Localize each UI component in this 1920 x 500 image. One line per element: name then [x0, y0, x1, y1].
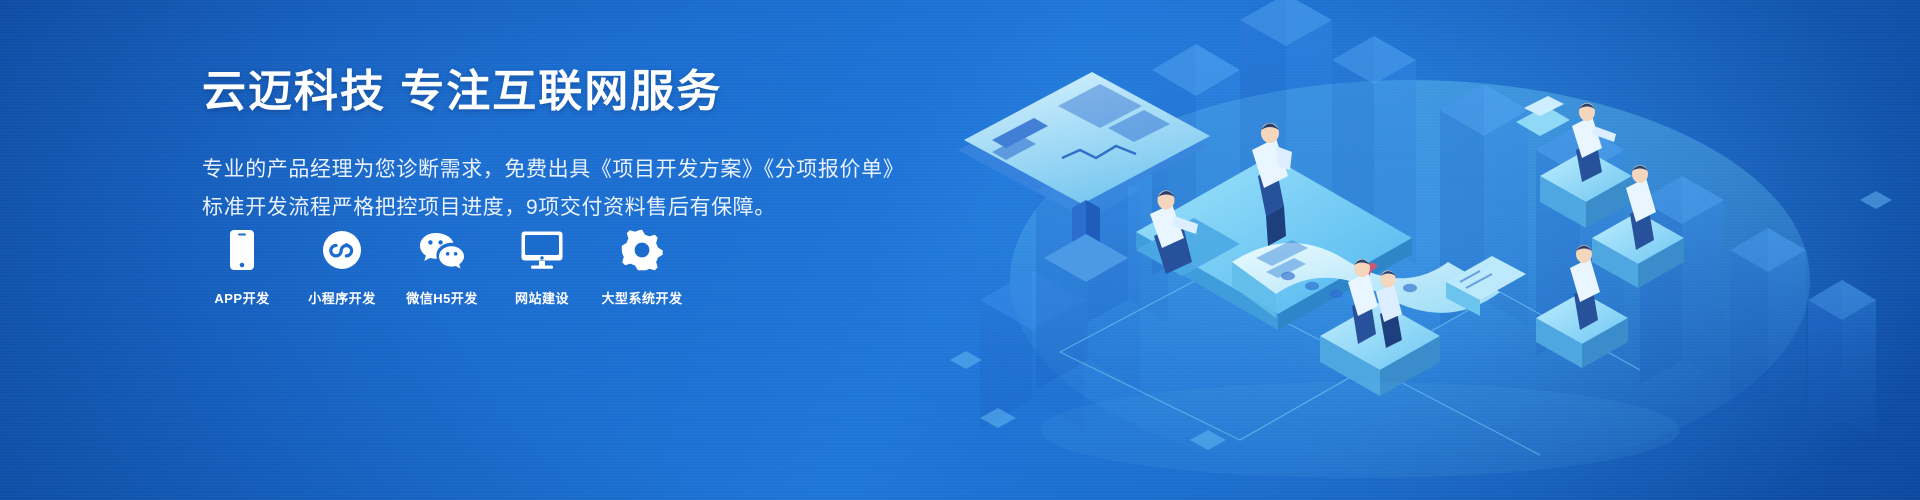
mini-program-icon: [322, 228, 362, 272]
page-title: 云迈科技 专注互联网服务: [202, 66, 904, 119]
service-item-mini-program[interactable]: 小程序开发: [304, 228, 380, 307]
monitor-icon: [520, 228, 564, 272]
service-label-large-system: 大型系统开发: [602, 288, 683, 307]
subtitle-line-2: 标准开发流程严格把控项目进度，9项交付资料售后有保障。: [202, 189, 904, 227]
service-item-wechat[interactable]: 微信H5开发: [404, 228, 480, 307]
hero-banner: 云迈科技 专注互联网服务 专业的产品经理为您诊断需求，免费出具《项目开发方案》《…: [0, 0, 1920, 500]
banner-subtitle: 专业的产品经理为您诊断需求，免费出具《项目开发方案》《分项报价单》 标准开发流程…: [202, 151, 904, 227]
service-icon-row: APP开发 小程序开发: [204, 228, 680, 307]
subtitle-line-1: 专业的产品经理为您诊断需求，免费出具《项目开发方案》《分项报价单》: [202, 151, 904, 189]
mobile-phone-icon: [229, 228, 255, 272]
isometric-illustration: [940, 0, 1920, 500]
service-label-app: APP开发: [214, 288, 269, 307]
gear-icon: [621, 228, 663, 272]
service-label-mini-program: 小程序开发: [308, 288, 376, 307]
wechat-icon: [418, 228, 466, 272]
service-item-website[interactable]: 网站建设: [504, 228, 580, 307]
banner-text-block: 云迈科技 专注互联网服务 专业的产品经理为您诊断需求，免费出具《项目开发方案》《…: [202, 66, 904, 227]
service-label-website: 网站建设: [515, 288, 569, 307]
service-item-system[interactable]: 大型系统开发: [604, 228, 680, 307]
service-label-wechat-h5: 微信H5开发: [406, 288, 478, 307]
service-item-app[interactable]: APP开发: [204, 228, 280, 307]
